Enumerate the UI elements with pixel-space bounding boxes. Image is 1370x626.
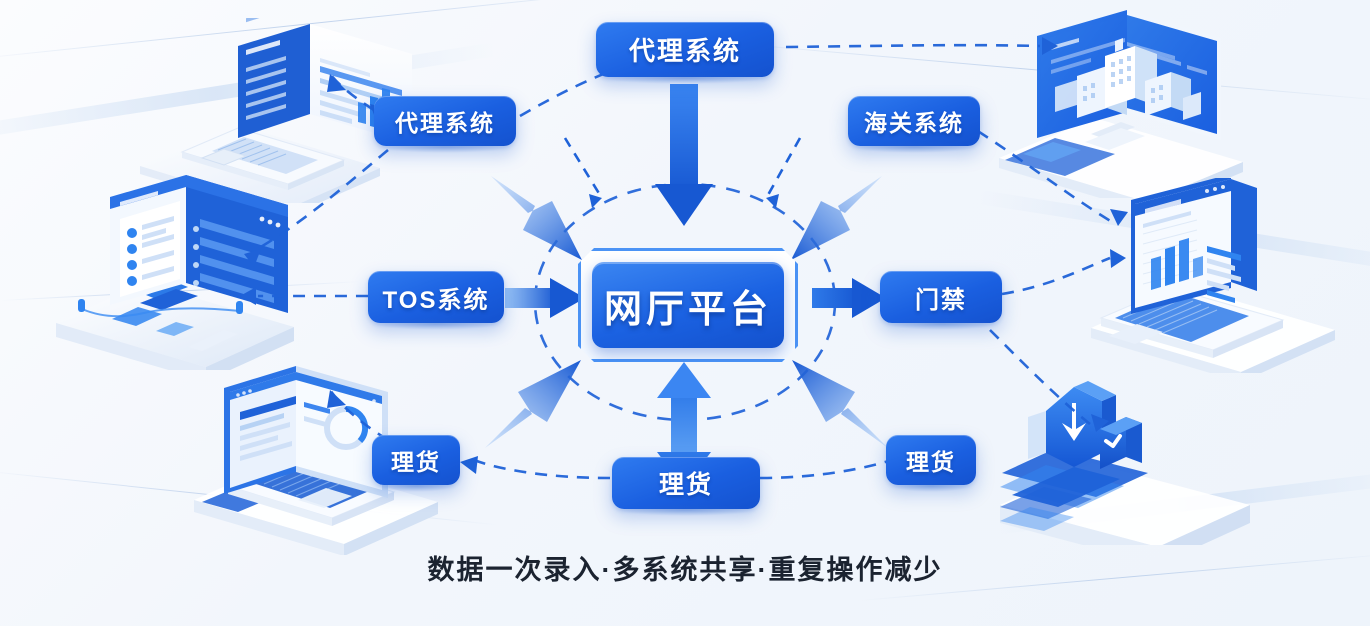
node-tally-left[interactable]: 理货 [372, 435, 460, 485]
dashed-stub-arrowhead [766, 194, 779, 208]
dashed-stub-left [565, 138, 600, 195]
node-tos-label: TOS系统 [383, 280, 490, 315]
arrow-core-to-access [812, 278, 886, 318]
caption-text: 数据一次录入·多系统共享·重复操作减少 [0, 548, 1370, 587]
dashed-stub-right [768, 138, 800, 195]
core-platform-inner: 网厅平台 [592, 262, 784, 348]
node-access-label: 门禁 [915, 280, 967, 315]
device-laptop-analytics [1085, 178, 1370, 373]
arrow-agenttop-to-core [655, 84, 713, 226]
arrow-tallyright-to-core [792, 360, 888, 448]
core-platform[interactable]: 网厅平台 [578, 248, 798, 362]
arrow-tallyleft-to-core [485, 360, 581, 448]
node-tally-right[interactable]: 理货 [886, 435, 976, 485]
node-customs-label: 海关系统 [864, 104, 964, 138]
node-tally-right-label: 理货 [906, 443, 956, 477]
dashed-tallybottom-to-right [760, 460, 892, 478]
node-agent-left[interactable]: 代理系统 [374, 96, 516, 146]
node-agent-top[interactable]: 代理系统 [596, 22, 774, 77]
node-customs[interactable]: 海关系统 [848, 96, 980, 146]
node-access[interactable]: 门禁 [880, 271, 1002, 323]
device-blocks-download [1000, 345, 1300, 545]
node-agent-left-label: 代理系统 [395, 104, 495, 138]
dashed-tallybottom-to-left [474, 460, 610, 478]
node-tos[interactable]: TOS系统 [368, 271, 504, 323]
arrow-customs-to-core [791, 176, 882, 260]
node-tally-bottom-label: 理货 [659, 465, 713, 501]
dashed-stub-arrowhead [589, 194, 602, 208]
device-monitor-checklist [48, 175, 338, 370]
diagram-canvas: 网厅平台 代理系统 代理系统 海关系统 TOS系统 门禁 理货 理货 理货 数据… [0, 0, 1370, 626]
arrow-agentleft-to-core [491, 176, 582, 260]
node-tally-bottom[interactable]: 理货 [612, 457, 760, 509]
node-agent-top-label: 代理系统 [629, 31, 741, 68]
node-tally-left-label: 理货 [391, 443, 441, 477]
device-monitor-city [995, 8, 1295, 198]
core-platform-label: 网厅平台 [604, 278, 772, 333]
arrow-tos-to-core [505, 278, 585, 318]
